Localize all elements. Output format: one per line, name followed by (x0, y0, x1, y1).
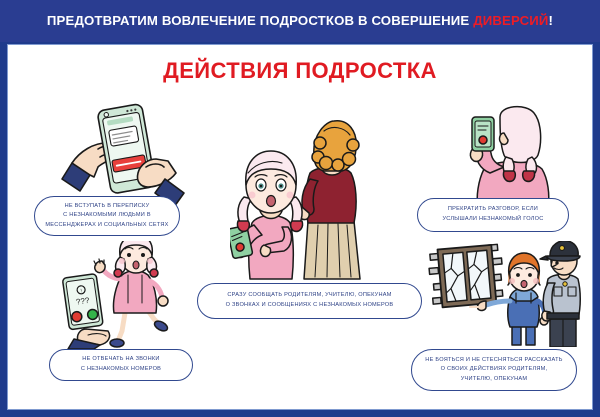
caption-text: НЕ ВСТУПАТЬ В ПЕРЕПИСКУ С НЕЗНАКОМЫМИ ЛЮ… (45, 202, 168, 231)
svg-text:???: ??? (75, 296, 90, 307)
poster-root: ПРЕДОТВРАТИМ ВОВЛЕЧЕНИЕ ПОДРОСТКОВ В СОВ… (0, 0, 600, 417)
caption-end-call-unknown-voice: ПРЕКРАТИТЬ РАЗГОВОР, ЕСЛИ УСЛЫШАЛИ НЕЗНА… (417, 198, 569, 232)
illustration-running-girl-and-calling-phone: ! ??? (60, 241, 206, 349)
caption-dont-be-afraid-to-tell: НЕ БОЯТЬСЯ И НЕ СТЕСНЯТЬСЯ РАССКАЗАТЬ О … (411, 349, 577, 391)
header-text-accent: ДИВЕРСИЙ (473, 13, 548, 28)
header-banner-text: ПРЕДОТВРАТИМ ВОВЛЕЧЕНИЕ ПОДРОСТКОВ В СОВ… (47, 14, 553, 27)
girl-call-art (460, 103, 556, 207)
illustration-girl-with-phone-and-woman (230, 111, 370, 283)
girl-woman-art (230, 111, 370, 283)
illustration-girl-on-phone-call (460, 103, 556, 207)
illustration-boy-pointing-broken-window-police (428, 241, 588, 347)
header-text-main: ПРЕДОТВРАТИМ ВОВЛЕЧЕНИЕ ПОДРОСТКОВ В СОВ… (47, 13, 473, 28)
caption-report-to-adults: СРАЗУ СООБЩАТЬ РОДИТЕЛЯМ, УЧИТЕЛЮ, ОПЕКУ… (197, 283, 422, 319)
page-title: ДЕЙСТВИЯ ПОДРОСТКА (8, 58, 592, 84)
header-banner: ПРЕДОТВРАТИМ ВОВЛЕЧЕНИЕ ПОДРОСТКОВ В СОВ… (0, 0, 600, 42)
run-girl-art: ! ??? (60, 241, 206, 349)
caption-no-messaging-strangers: НЕ ВСТУПАТЬ В ПЕРЕПИСКУ С НЕЗНАКОМЫМИ ЛЮ… (34, 196, 180, 236)
caption-text: СРАЗУ СООБЩАТЬ РОДИТЕЛЯМ, УЧИТЕЛЮ, ОПЕКУ… (226, 291, 394, 310)
caption-text: НЕ ОТВЕЧАТЬ НА ЗВОНКИ С НЕЗНАКОМЫХ НОМЕР… (81, 355, 161, 374)
poster-canvas: ДЕЙСТВИЯ ПОДРОСТКА (7, 44, 593, 410)
police-scene-art (428, 241, 588, 347)
caption-dont-answer-unknown-numbers: НЕ ОТВЕЧАТЬ НА ЗВОНКИ С НЕЗНАКОМЫХ НОМЕР… (49, 349, 193, 381)
caption-text: НЕ БОЯТЬСЯ И НЕ СТЕСНЯТЬСЯ РАССКАЗАТЬ О … (425, 356, 562, 385)
caption-text: ПРЕКРАТИТЬ РАЗГОВОР, ЕСЛИ УСЛЫШАЛИ НЕЗНА… (442, 205, 543, 224)
header-text-end: ! (549, 13, 554, 28)
